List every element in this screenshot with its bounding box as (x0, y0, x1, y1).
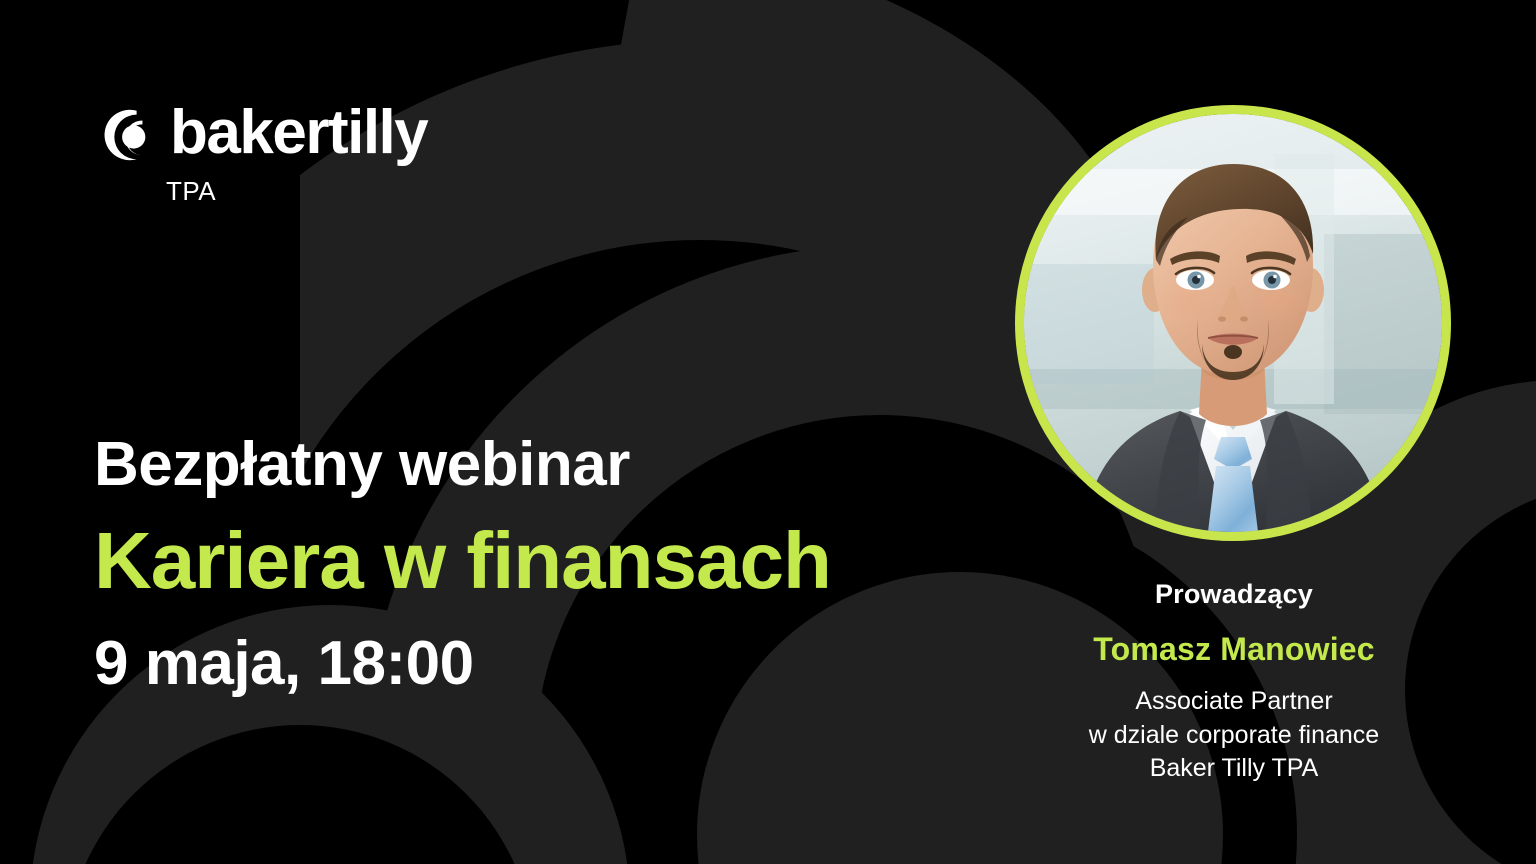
brand-sub-wordmark: TPA (166, 176, 427, 207)
logo-row: bakertilly (94, 100, 427, 166)
speaker-name: Tomasz Manowiec (1020, 630, 1448, 668)
speaker-role-label: Prowadzący (1020, 578, 1448, 610)
promo-headline: Kariera w finansach (94, 519, 974, 603)
speaker-portrait (1015, 105, 1451, 541)
speaker-detail-line: Associate Partner (1020, 685, 1448, 719)
brand-wordmark: bakertilly (170, 102, 427, 164)
promo-kicker: Bezpłatny webinar (94, 432, 974, 497)
speaker-portrait-image (1024, 114, 1442, 532)
speaker-detail-line: w dziale corporate finance (1020, 719, 1448, 753)
promo-datetime: 9 maja, 18:00 (94, 631, 974, 696)
baker-tilly-swirl-icon (94, 104, 156, 166)
portrait-clip (1024, 114, 1442, 532)
speaker-detail-line: Baker Tilly TPA (1020, 752, 1448, 786)
webinar-promo-banner: bakertilly TPA Bezpłatny webinar Kariera… (0, 0, 1536, 864)
brand-logo: bakertilly TPA (94, 100, 427, 207)
speaker-info: Prowadzący Tomasz Manowiec Associate Par… (1020, 578, 1448, 786)
speaker-detail-lines: Associate Partner w dziale corporate fin… (1020, 685, 1448, 786)
promo-copy: Bezpłatny webinar Kariera w finansach 9 … (94, 432, 974, 696)
